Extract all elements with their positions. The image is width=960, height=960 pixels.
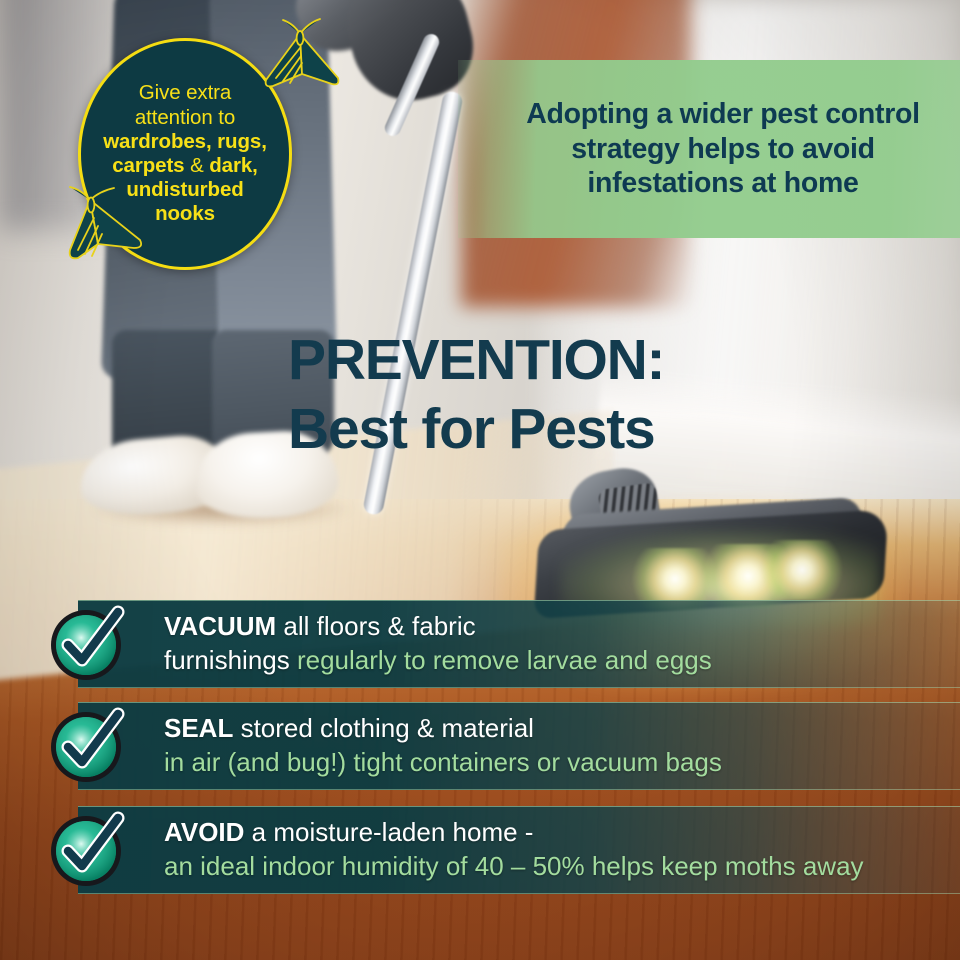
callout-light-line-1: Give extra xyxy=(139,81,231,104)
tip-line-2: an ideal indoor humidity of 40 – 50% hel… xyxy=(164,851,864,883)
photo-vacuum-led-3 xyxy=(760,540,844,600)
moth-icon xyxy=(250,18,354,96)
check-circle-icon xyxy=(46,704,130,788)
callout-bold-line-2b: dark, xyxy=(209,154,258,177)
banner-line-3-regular: at home xyxy=(744,167,859,199)
callout-bold-line-4: nooks xyxy=(155,202,215,225)
banner-line-3-bold: infestations xyxy=(587,167,743,199)
banner-line-2-bold: avoid xyxy=(802,133,875,165)
callout-light-line-2: attention to xyxy=(135,106,235,129)
banner-line-1: Adopting a wider pest control xyxy=(526,98,919,130)
tip-line-2: furnishings regularly to remove larvae a… xyxy=(164,645,712,677)
tip-text: SEAL stored clothing & material in air (… xyxy=(164,713,722,778)
tip-keyword: SEAL xyxy=(164,713,233,743)
tip-line-1-rest: all floors & fabric xyxy=(276,611,475,641)
tip-text: AVOID a moisture-laden home - an ideal i… xyxy=(164,817,864,882)
tip-line-1: AVOID a moisture-laden home - xyxy=(164,817,864,849)
tip-line-2-green: in air (and bug!) tight containers or va… xyxy=(164,747,722,777)
tip-line-1-rest: stored clothing & material xyxy=(233,713,534,743)
tip-line-1-rest: a moisture-laden home - xyxy=(244,817,533,847)
tip-line-2-green: an ideal indoor humidity of 40 – 50% hel… xyxy=(164,851,864,881)
moth-icon xyxy=(48,186,160,272)
page-title-line-1: PREVENTION: xyxy=(288,332,664,389)
tip-line-2-green: regularly to remove larvae and eggs xyxy=(297,645,712,675)
page-title-line-2: Best for Pests xyxy=(288,401,664,458)
callout-ampersand: & xyxy=(184,154,209,177)
check-circle-icon xyxy=(46,602,130,686)
tip-row: AVOID a moisture-laden home - an ideal i… xyxy=(78,806,960,894)
tip-line-1: VACUUM all floors & fabric xyxy=(164,611,712,643)
tip-line-2: in air (and bug!) tight containers or va… xyxy=(164,747,722,779)
tip-keyword: AVOID xyxy=(164,817,244,847)
tip-line-2-white: furnishings xyxy=(164,645,297,675)
tip-keyword: VACUUM xyxy=(164,611,276,641)
tip-row: VACUUM all floors & fabric furnishings r… xyxy=(78,600,960,688)
green-banner-text: Adopting a wider pest control strategy h… xyxy=(472,97,945,201)
callout-bold-line-1: wardrobes, rugs, xyxy=(103,130,267,153)
page-title: PREVENTION: Best for Pests xyxy=(288,332,664,458)
tip-row: SEAL stored clothing & material in air (… xyxy=(78,702,960,790)
green-banner: Adopting a wider pest control strategy h… xyxy=(458,60,960,238)
callout-bold-line-2a: carpets xyxy=(112,154,184,177)
infographic-poster: Give extra attention to wardrobes, rugs,… xyxy=(0,0,960,960)
check-circle-icon xyxy=(46,808,130,892)
tip-text: VACUUM all floors & fabric furnishings r… xyxy=(164,611,712,676)
banner-line-2-regular: strategy helps to xyxy=(571,133,802,165)
tip-line-1: SEAL stored clothing & material xyxy=(164,713,722,745)
